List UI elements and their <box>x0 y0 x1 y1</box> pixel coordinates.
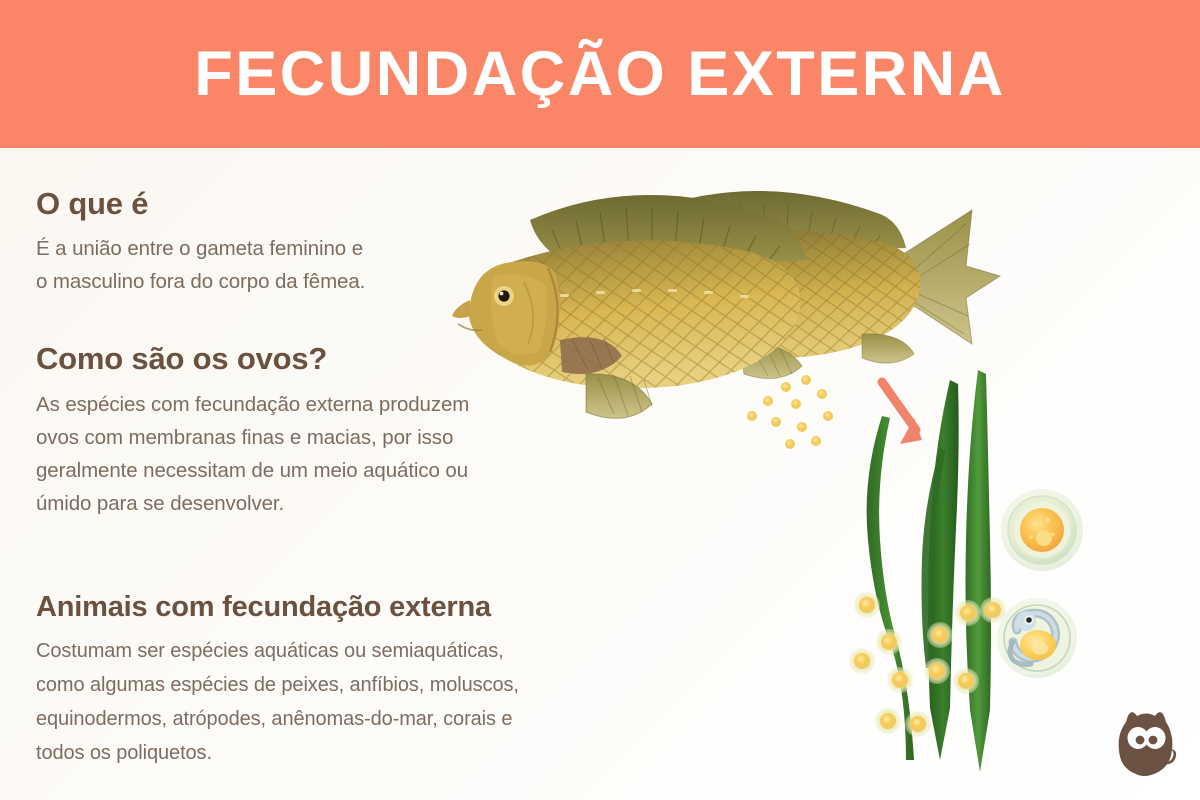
content-column: O que é É a união entre o gameta feminin… <box>0 148 700 800</box>
body-line: úmido para se desenvolver. <box>36 487 469 520</box>
section-body: É a união entre o gameta feminino e o ma… <box>36 232 365 298</box>
arrow-icon <box>882 382 922 444</box>
section-body: Costumam ser espécies aquáticas ou semia… <box>36 634 519 770</box>
page-header: FECUNDAÇÃO EXTERNA <box>0 0 1200 148</box>
section-heading: Animais com fecundação externa <box>36 591 519 624</box>
section-body: As espécies com fecundação externa produ… <box>36 388 469 520</box>
body-line: ovos com membranas finas e macias, por i… <box>36 421 469 454</box>
section-heading: Como são os ovos? <box>36 341 469 377</box>
owl-logo[interactable] <box>1110 700 1182 782</box>
aquatic-plants <box>867 370 991 772</box>
body-line: É a união entre o gameta feminino e <box>36 232 365 265</box>
body-line: As espécies com fecundação externa produ… <box>36 388 469 421</box>
body-line: geralmente necessitam de um meio aquátic… <box>36 454 469 487</box>
embryo-detail <box>997 598 1077 678</box>
body-line: como algumas espécies de peixes, anfíbio… <box>36 668 519 702</box>
body-line: equinodermos, atrópodes, anênomas-do-mar… <box>36 702 519 736</box>
fertilized-egg-detail <box>1001 489 1083 571</box>
attached-eggs <box>849 592 1006 737</box>
released-eggs <box>747 375 833 449</box>
body-line: todos os poliquetos. <box>36 736 519 770</box>
page-title: FECUNDAÇÃO EXTERNA <box>194 43 1006 106</box>
body-line: Costumam ser espécies aquáticas ou semia… <box>36 634 519 668</box>
section-animais-com-fecundacao-externa: Animais com fecundação externa Costumam … <box>36 591 519 770</box>
section-o-que-e: O que é É a união entre o gameta feminin… <box>36 186 365 298</box>
section-como-sao-os-ovos: Como são os ovos? As espécies com fecund… <box>36 341 469 520</box>
section-heading: O que é <box>36 186 365 222</box>
infographic-page: FECUNDAÇÃO EXTERNA <box>0 0 1200 800</box>
body-line: o masculino fora do corpo da fêmea. <box>36 265 365 298</box>
